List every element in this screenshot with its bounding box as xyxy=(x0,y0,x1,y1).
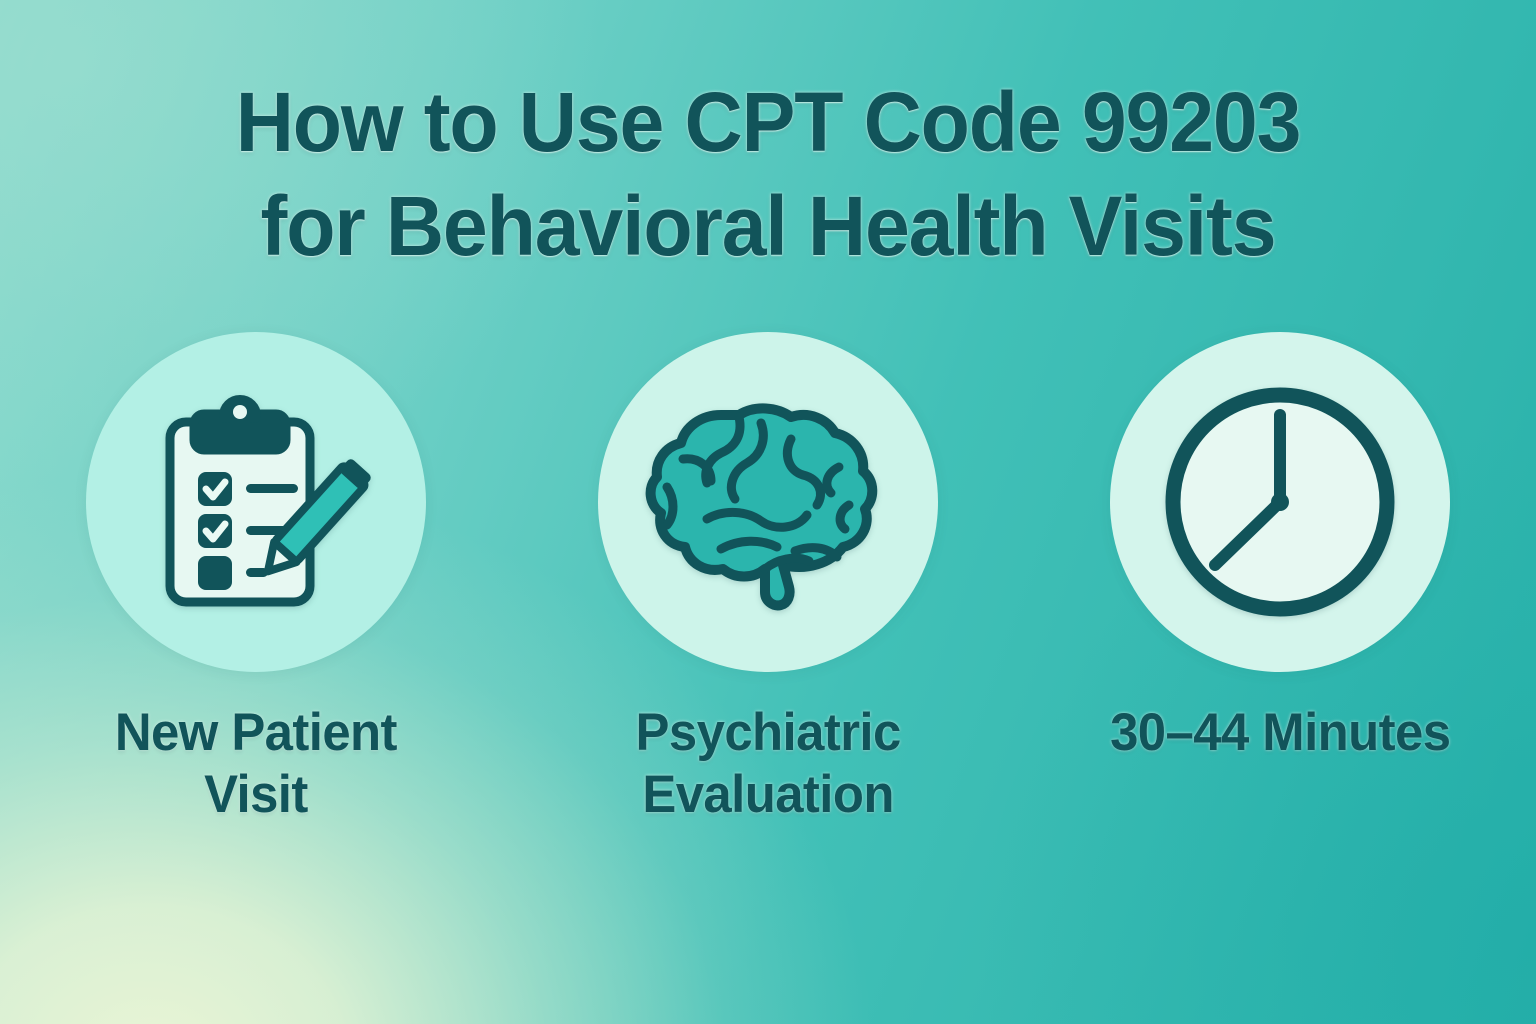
feature-card-duration: 30–44 Minutes xyxy=(1024,332,1536,764)
icon-badge-brain xyxy=(598,332,938,672)
icon-badge-clock xyxy=(1110,332,1450,672)
caption-line-1: Psychiatric xyxy=(635,702,900,764)
feature-card-row: New Patient Visit xyxy=(0,332,1536,826)
clock-icon xyxy=(1155,377,1405,627)
page-title: How to Use CPT Code 99203 for Behavioral… xyxy=(0,70,1536,278)
title-line-2: for Behavioral Health Visits xyxy=(31,174,1506,278)
caption-line-1: 30–44 Minutes xyxy=(1110,702,1450,764)
infographic-canvas: How to Use CPT Code 99203 for Behavioral… xyxy=(0,0,1536,1024)
brain-icon xyxy=(643,387,893,617)
caption-line-1: New Patient xyxy=(115,702,397,764)
icon-badge-clipboard xyxy=(86,332,426,672)
feature-card-new-patient-visit: New Patient Visit xyxy=(0,332,512,826)
feature-card-psychiatric-evaluation: Psychiatric Evaluation xyxy=(512,332,1024,826)
feature-caption-new-patient-visit: New Patient Visit xyxy=(115,702,397,826)
feature-caption-duration: 30–44 Minutes xyxy=(1110,702,1450,764)
clipboard-checklist-icon xyxy=(136,382,376,622)
caption-line-2: Visit xyxy=(115,764,397,826)
caption-line-2: Evaluation xyxy=(635,764,900,826)
title-line-1: How to Use CPT Code 99203 xyxy=(31,70,1506,174)
feature-caption-psychiatric-evaluation: Psychiatric Evaluation xyxy=(635,702,900,826)
